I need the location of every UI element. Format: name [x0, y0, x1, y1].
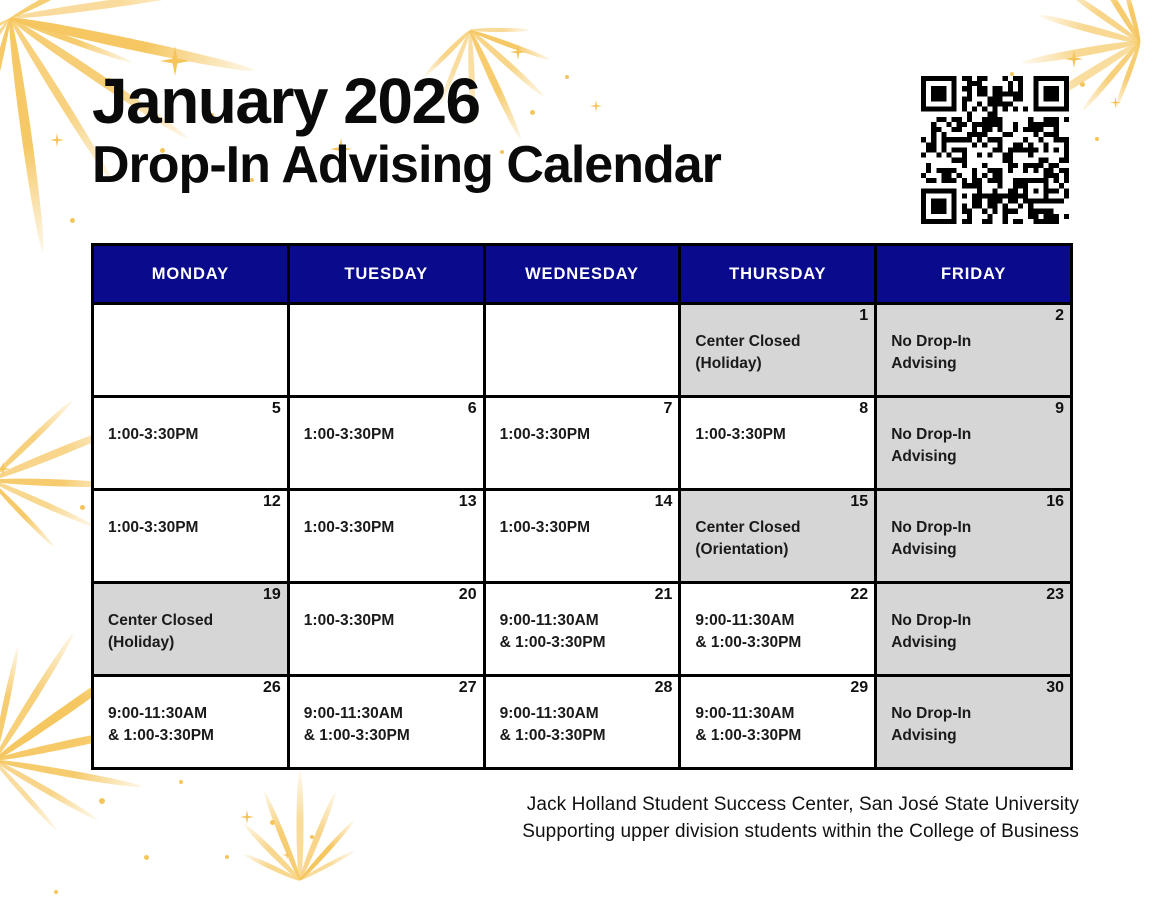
day-entry-line: (Holiday): [695, 353, 874, 375]
day-entry-text: 1:00-3:30PM: [94, 398, 287, 446]
day-entry-line: 1:00-3:30PM: [108, 517, 287, 539]
day-entry-line: No Drop-In: [891, 424, 1070, 446]
day-entry-text: No Drop-InAdvising: [877, 677, 1070, 747]
firework-ray: [1060, 0, 1141, 44]
day-entry-line: 9:00-11:30AM: [304, 703, 483, 725]
calendar-cell-empty: [93, 304, 289, 397]
day-entry-line: 1:00-3:30PM: [695, 424, 874, 446]
firework-spark: [1080, 82, 1085, 87]
day-number: 27: [459, 679, 477, 697]
firework-sparkle-star: [1065, 50, 1083, 68]
day-entry-line: 1:00-3:30PM: [304, 424, 483, 446]
day-number: 30: [1046, 679, 1064, 697]
firework-sparkle-star: [1110, 97, 1121, 108]
firework-spark: [54, 890, 58, 894]
firework-ray: [0, 398, 75, 482]
footer: Jack Holland Student Success Center, San…: [0, 792, 1079, 846]
firework-ray: [1095, 0, 1142, 44]
calendar-cell-day-21[interactable]: 219:00-11:30AM& 1:00-3:30PM: [484, 583, 680, 676]
calendar-week-row: 269:00-11:30AM& 1:00-3:30PM279:00-11:30A…: [93, 676, 1072, 769]
day-entry-text: Center Closed(Orientation): [681, 491, 874, 561]
calendar-header-monday: MONDAY: [93, 245, 289, 304]
day-number: 7: [663, 400, 672, 418]
day-entry-text: 1:00-3:30PM: [290, 491, 483, 539]
calendar-cell-day-16[interactable]: 16No Drop-InAdvising: [876, 490, 1072, 583]
day-number: 12: [263, 493, 281, 511]
day-entry-line: 9:00-11:30AM: [695, 703, 874, 725]
day-number: 9: [1055, 400, 1064, 418]
day-number: 1: [859, 307, 868, 325]
firework-ray: [470, 28, 530, 32]
day-entry-line: 1:00-3:30PM: [500, 424, 679, 446]
calendar-cell-day-29[interactable]: 299:00-11:30AM& 1:00-3:30PM: [680, 676, 876, 769]
calendar-week-row: 51:00-3:30PM61:00-3:30PM71:00-3:30PM81:0…: [93, 397, 1072, 490]
calendar-header-wednesday: WEDNESDAY: [484, 245, 680, 304]
firework-sparkle-star: [510, 44, 526, 60]
day-entry-line: 1:00-3:30PM: [500, 517, 679, 539]
day-number: 26: [263, 679, 281, 697]
firework-ray: [0, 631, 76, 762]
calendar-cell-day-26[interactable]: 269:00-11:30AM& 1:00-3:30PM: [93, 676, 289, 769]
day-entry-line: Center Closed: [108, 610, 287, 632]
day-entry-line: 9:00-11:30AM: [695, 610, 874, 632]
footer-line-2: Supporting upper division students withi…: [0, 819, 1079, 846]
day-entry-line: & 1:00-3:30PM: [500, 725, 679, 747]
firework-sparkle-star: [0, 462, 10, 476]
calendar-week-row: 121:00-3:30PM131:00-3:30PM141:00-3:30PM1…: [93, 490, 1072, 583]
day-entry-text: 9:00-11:30AM& 1:00-3:30PM: [681, 584, 874, 654]
firework-spark: [70, 218, 75, 223]
day-number: 20: [459, 586, 477, 604]
firework-ray: [0, 16, 12, 149]
firework-ray: [0, 16, 11, 80]
calendar-cell-day-28[interactable]: 289:00-11:30AM& 1:00-3:30PM: [484, 676, 680, 769]
day-entry-text: No Drop-InAdvising: [877, 305, 1070, 375]
firework-ray: [1114, 41, 1143, 108]
calendar-cell-day-22[interactable]: 229:00-11:30AM& 1:00-3:30PM: [680, 583, 876, 676]
firework-spark: [80, 505, 85, 510]
title-subtitle: Drop-In Advising Calendar: [92, 139, 721, 191]
day-entry-text: 9:00-11:30AM& 1:00-3:30PM: [290, 677, 483, 747]
calendar-cell-day-27[interactable]: 279:00-11:30AM& 1:00-3:30PM: [288, 676, 484, 769]
day-entry-text: No Drop-InAdvising: [877, 398, 1070, 468]
day-number: 22: [850, 586, 868, 604]
calendar-week-row: 19Center Closed(Holiday)201:00-3:30PM219…: [93, 583, 1072, 676]
day-entry-line: & 1:00-3:30PM: [695, 632, 874, 654]
firework-ray: [5, 17, 48, 251]
day-entry-text: 1:00-3:30PM: [290, 584, 483, 632]
calendar-cell-day-23[interactable]: 23No Drop-InAdvising: [876, 583, 1072, 676]
day-entry-line: & 1:00-3:30PM: [304, 725, 483, 747]
calendar-cell-day-30[interactable]: 30No Drop-InAdvising: [876, 676, 1072, 769]
calendar-header-row: MONDAYTUESDAYWEDNESDAYTHURSDAYFRIDAY: [93, 245, 1072, 304]
firework-ray: [0, 478, 56, 548]
day-entry-text: 1:00-3:30PM: [486, 398, 679, 446]
calendar-cell-day-1[interactable]: 1Center Closed(Holiday): [680, 304, 876, 397]
calendar-cell-day-6[interactable]: 61:00-3:30PM: [288, 397, 484, 490]
day-number: 6: [468, 400, 477, 418]
calendar-cell-day-8[interactable]: 81:00-3:30PM: [680, 397, 876, 490]
day-entry-line: Advising: [891, 539, 1070, 561]
calendar-cell-day-12[interactable]: 121:00-3:30PM: [93, 490, 289, 583]
day-entry-line: 1:00-3:30PM: [304, 517, 483, 539]
day-number: 19: [263, 586, 281, 604]
day-entry-line: (Orientation): [695, 539, 874, 561]
calendar-cell-day-20[interactable]: 201:00-3:30PM: [288, 583, 484, 676]
firework-ray: [9, 15, 133, 65]
day-entry-line: & 1:00-3:30PM: [695, 725, 874, 747]
calendar-header-friday: FRIDAY: [876, 245, 1072, 304]
day-number: 23: [1046, 586, 1064, 604]
firework-ray: [1121, 0, 1143, 43]
firework-sparkle-star: [0, 748, 2, 764]
day-entry-text: Center Closed(Holiday): [94, 584, 287, 654]
calendar-cell-day-19[interactable]: 19Center Closed(Holiday): [93, 583, 289, 676]
firework-spark: [1095, 137, 1099, 141]
day-number: 14: [655, 493, 673, 511]
firework-spark: [179, 780, 183, 784]
day-entry-line: Center Closed: [695, 517, 874, 539]
calendar-cell-day-9[interactable]: 9No Drop-InAdvising: [876, 397, 1072, 490]
day-entry-line: No Drop-In: [891, 703, 1070, 725]
calendar-cell-day-13[interactable]: 131:00-3:30PM: [288, 490, 484, 583]
day-number: 13: [459, 493, 477, 511]
calendar-cell-day-15[interactable]: 15Center Closed(Orientation): [680, 490, 876, 583]
day-entry-text: 1:00-3:30PM: [681, 398, 874, 446]
day-entry-line: & 1:00-3:30PM: [108, 725, 287, 747]
page-title: January 2026 Drop-In Advising Calendar: [92, 70, 721, 191]
title-month-year: January 2026: [92, 70, 721, 133]
calendar-cell-empty: [288, 304, 484, 397]
firework-ray: [1038, 11, 1141, 45]
advising-calendar: MONDAYTUESDAYWEDNESDAYTHURSDAYFRIDAY 1Ce…: [91, 243, 1073, 770]
firework-ray: [1080, 40, 1142, 113]
calendar-header-thursday: THURSDAY: [680, 245, 876, 304]
day-number: 2: [1055, 307, 1064, 325]
day-entry-text: 9:00-11:30AM& 1:00-3:30PM: [486, 584, 679, 654]
day-entry-text: 1:00-3:30PM: [94, 491, 287, 539]
day-entry-line: (Holiday): [108, 632, 287, 654]
day-entry-text: 9:00-11:30AM& 1:00-3:30PM: [486, 677, 679, 747]
firework-ray: [243, 852, 301, 883]
day-number: 21: [655, 586, 673, 604]
day-entry-text: 9:00-11:30AM& 1:00-3:30PM: [681, 677, 874, 747]
firework-ray: [0, 477, 96, 529]
firework-ray: [1021, 38, 1141, 67]
day-number: 16: [1046, 493, 1064, 511]
firework-spark: [144, 855, 149, 860]
day-entry-line: Advising: [891, 446, 1070, 468]
firework-spark: [225, 855, 229, 859]
day-entry-line: No Drop-In: [891, 331, 1070, 353]
calendar-body: 1Center Closed(Holiday)2No Drop-InAdvisi…: [93, 304, 1072, 769]
day-entry-text: No Drop-InAdvising: [877, 584, 1070, 654]
day-entry-line: No Drop-In: [891, 517, 1070, 539]
qr-code[interactable]: [921, 76, 1069, 224]
firework-ray: [8, 0, 166, 21]
footer-line-1: Jack Holland Student Success Center, San…: [0, 792, 1079, 819]
day-entry-line: Advising: [891, 353, 1070, 375]
firework-ray: [299, 849, 356, 882]
day-entry-text: Center Closed(Holiday): [681, 305, 874, 375]
day-entry-line: & 1:00-3:30PM: [500, 632, 679, 654]
day-entry-text: 1:00-3:30PM: [290, 398, 483, 446]
calendar-week-row: 1Center Closed(Holiday)2No Drop-InAdvisi…: [93, 304, 1072, 397]
day-entry-line: 9:00-11:30AM: [500, 610, 679, 632]
day-number: 8: [859, 400, 868, 418]
firework-ray: [9, 0, 213, 22]
day-number: 15: [850, 493, 868, 511]
day-number: 28: [655, 679, 673, 697]
day-entry-line: Advising: [891, 725, 1070, 747]
day-entry-line: 9:00-11:30AM: [108, 703, 287, 725]
day-entry-line: No Drop-In: [891, 610, 1070, 632]
day-number: 5: [272, 400, 281, 418]
calendar-header-tuesday: TUESDAY: [288, 245, 484, 304]
day-entry-text: 9:00-11:30AM& 1:00-3:30PM: [94, 677, 287, 747]
firework-ray: [0, 647, 21, 761]
day-entry-line: Advising: [891, 632, 1070, 654]
firework-ray: [0, 17, 13, 198]
firework-ray: [469, 28, 551, 62]
calendar-cell-day-14[interactable]: 141:00-3:30PM: [484, 490, 680, 583]
day-entry-text: 1:00-3:30PM: [486, 491, 679, 539]
calendar-cell-day-5[interactable]: 51:00-3:30PM: [93, 397, 289, 490]
day-number: 29: [850, 679, 868, 697]
calendar-cell-day-7[interactable]: 71:00-3:30PM: [484, 397, 680, 490]
day-entry-line: 1:00-3:30PM: [304, 610, 483, 632]
day-entry-text: No Drop-InAdvising: [877, 491, 1070, 561]
firework-sparkle-star: [50, 133, 64, 147]
day-entry-line: 1:00-3:30PM: [108, 424, 287, 446]
day-entry-line: Center Closed: [695, 331, 874, 353]
firework-sparkle-star: [282, 850, 292, 860]
calendar-cell-day-2[interactable]: 2No Drop-InAdvising: [876, 304, 1072, 397]
day-entry-line: 9:00-11:30AM: [500, 703, 679, 725]
calendar-cell-empty: [484, 304, 680, 397]
